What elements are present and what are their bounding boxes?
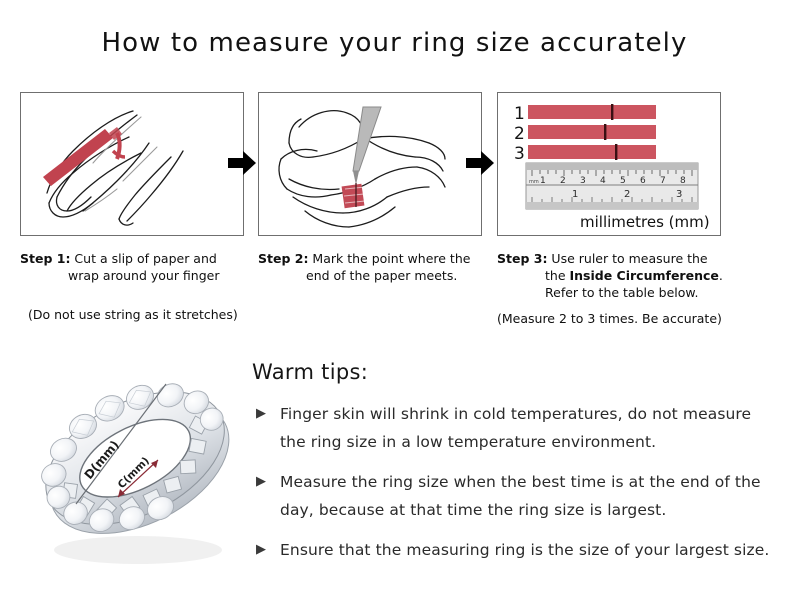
svg-text:1: 1 [572,189,578,200]
ruler-caption-text: millimetres (mm) [580,213,710,231]
step-1-note: (Do not use string as it stretches) [20,306,256,323]
tip-item: ▶ Measure the ring size when the best ti… [252,468,780,524]
svg-text:7: 7 [660,176,666,186]
step-3-lead: Step 3: [497,251,547,266]
svg-text:8: 8 [680,176,686,186]
ring-diagram: D(mm) C(mm) [18,352,256,584]
step-3-panel: 1 2 3 [497,92,721,236]
step-3-text-line-3: Refer to the table below. [497,284,733,301]
triangle-bullet-icon: ▶ [256,536,266,564]
tip-text: Ensure that the measuring ring is the si… [280,541,769,559]
ring-illustration-icon: D(mm) C(mm) [18,352,256,584]
svg-text:3: 3 [676,189,682,200]
step-1-text-line-1: Cut a slip of paper and [70,251,216,266]
paper-strip-on-finger-shape [342,183,365,208]
step-2-column: Step 2: Mark the point where the end of … [258,92,494,284]
steps-row: Step 1: Cut a slip of paper and wrap aro… [0,92,789,342]
step-3-column: 1 2 3 [497,92,733,327]
step-3-line2-bold: Inside Circumference [570,268,719,283]
step-3-text-line-1: Use ruler to measure the [547,251,707,266]
step-3-note: (Measure 2 to 3 times. Be accurate) [497,310,733,327]
paper-strip-shape [43,127,122,186]
step-2-lead: Step 2: [258,251,308,266]
marking-paper-strip-icon [259,93,480,234]
strip-label-3: 3 [514,144,525,164]
step-2-caption: Step 2: Mark the point where the end of … [258,250,494,284]
warm-tips-heading: Warm tips: [252,360,780,384]
svg-text:4: 4 [600,176,606,186]
step-2-panel [258,92,482,236]
step-1-lead: Step 1: [20,251,70,266]
step-3-line2-post: . [719,268,723,283]
step-3-caption: Step 3: Use ruler to measure the the Ins… [497,250,733,301]
page-title: How to measure your ring size accurately [0,28,789,58]
svg-text:1: 1 [540,176,546,186]
tip-text: Finger skin will shrink in cold temperat… [280,405,751,451]
triangle-bullet-icon: ▶ [256,400,266,428]
strip-label-1: 1 [514,104,525,124]
step-3-text-line-2: the Inside Circumference. [497,267,733,284]
step-1-panel [20,92,244,236]
step-1-column: Step 1: Cut a slip of paper and wrap aro… [20,92,256,323]
svg-text:mm: mm [529,179,539,185]
svg-text:3: 3 [580,176,586,186]
svg-text:5: 5 [620,176,626,186]
warm-tips-section: Warm tips: ▶ Finger skin will shrink in … [252,360,780,576]
hand-with-paper-strip-icon [21,93,242,234]
ruler-and-strips-icon: 1 2 3 [498,93,719,234]
arrow-step1-to-step2-icon [228,148,256,178]
tip-item: ▶ Ensure that the measuring ring is the … [252,536,780,564]
tip-item: ▶ Finger skin will shrink in cold temper… [252,400,780,456]
step-1-caption: Step 1: Cut a slip of paper and wrap aro… [20,250,256,284]
step-2-text-line-1: Mark the point where the [308,251,470,266]
arrow-step2-to-step3-icon [466,148,494,178]
svg-text:2: 2 [624,189,630,200]
svg-text:2: 2 [560,176,566,186]
step-1-text-line-2: wrap around your finger [20,267,256,284]
strip-label-2: 2 [514,124,525,144]
svg-text:6: 6 [640,176,646,186]
triangle-bullet-icon: ▶ [256,468,266,496]
ruler-shape: 123 456 78 mm 123 [526,163,698,209]
step-2-text-line-2: end of the paper meets. [258,267,494,284]
tip-text: Measure the ring size when the best time… [280,473,761,519]
step-3-line2-pre: the [545,268,570,283]
